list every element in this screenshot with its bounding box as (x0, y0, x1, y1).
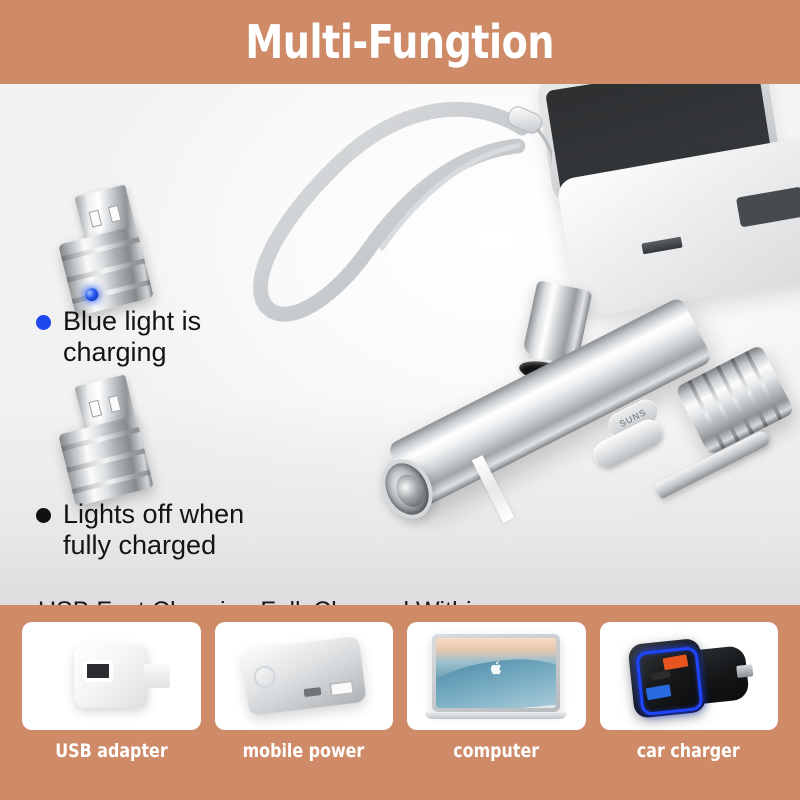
compatibility-card-grid: USB adapter mobile power (0, 605, 800, 800)
power-bank-button (252, 665, 277, 690)
callout-lights-off-fully-charged: Lights off when fully charged (36, 499, 244, 561)
compatibility-item-usb-adapter: USB adapter (22, 622, 201, 792)
car-charger-icon (625, 629, 753, 723)
usb-connector-led-on-icon (46, 190, 166, 308)
laptop-screen (432, 634, 560, 712)
car-charger-face (627, 638, 706, 719)
desktop-wallpaper (436, 638, 556, 708)
lanyard-strap (222, 90, 552, 330)
header-banner: Multi-Fungtion (0, 0, 800, 84)
compatibility-band: USB adapter mobile power (0, 605, 800, 800)
blue-bullet-dot (36, 315, 51, 330)
micro-usb-port (303, 687, 321, 697)
car-socket-tip (736, 664, 753, 678)
card-label: USB adapter (55, 740, 167, 762)
charging-description: USB Fast Charging FullyCharged Within 1 … (38, 594, 578, 605)
power-bank-icon (241, 636, 366, 716)
laptop-photo (560, 84, 800, 310)
apple-logo-icon (490, 661, 503, 676)
compatibility-item-mobile-power: mobile power (215, 622, 394, 792)
card-image-usb-adapter (22, 622, 201, 730)
callout-label: Blue light is charging (63, 306, 201, 368)
card-image-car-charger (600, 622, 779, 730)
black-bullet-dot (36, 508, 51, 523)
usb-barrel (58, 225, 154, 316)
usb-connector-led-off-icon (46, 380, 166, 498)
usb-a-port (329, 680, 355, 697)
card-label: mobile power (243, 740, 365, 762)
usb-wall-adapter-icon (74, 644, 148, 708)
card-image-mobile-power (215, 622, 394, 730)
lanyard-svg (222, 90, 552, 330)
laptop-macbook-icon (432, 634, 560, 719)
compatibility-item-computer: computer (407, 622, 586, 792)
wall-prong (144, 664, 170, 688)
compatibility-item-car-charger: car charger (600, 622, 779, 792)
callout-blue-light-charging: Blue light is charging (36, 306, 201, 368)
pen-flashlight: SUNS (395, 346, 795, 586)
usb-barrel (58, 415, 154, 506)
laptop-base (425, 712, 567, 719)
card-label: computer (453, 740, 539, 762)
usb-a-port (83, 660, 113, 682)
product-photo-scene: SUNS (0, 84, 800, 605)
page-title: Multi-Fungtion (246, 15, 555, 69)
callout-label: Lights off when fully charged (63, 499, 244, 561)
card-image-computer (407, 622, 586, 730)
product-infographic: Multi-Fungtion (0, 0, 800, 800)
card-label: car charger (637, 740, 740, 762)
